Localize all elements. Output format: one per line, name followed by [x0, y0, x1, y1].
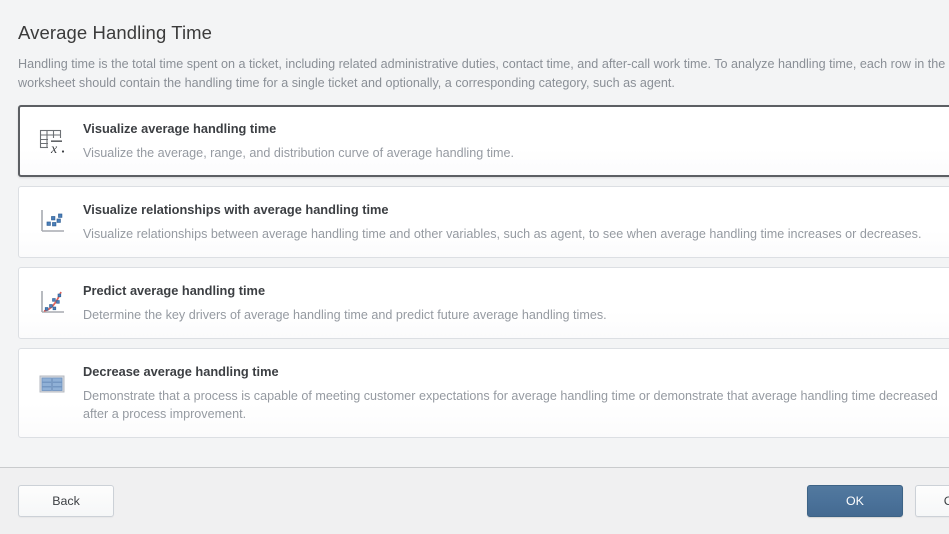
option-card-text: Visualize relationships with average han…	[83, 201, 921, 243]
option-card-title: Decrease average handling time	[83, 364, 938, 380]
option-card-title: Visualize average handling time	[83, 121, 514, 137]
option-card-description: Visualize relationships between average …	[83, 225, 921, 243]
option-card-text: Predict average handling time Determine …	[83, 282, 607, 324]
dialog-footer: Back OK Cancel	[0, 467, 949, 534]
option-card-visualize-average-handling-time[interactable]: x Visualize average handling time Visual…	[18, 105, 949, 177]
average-handling-time-dialog: Average Handling Time Handling time is t…	[0, 0, 949, 534]
svg-text:x: x	[50, 142, 58, 156]
option-card-description: Visualize the average, range, and distri…	[83, 144, 514, 162]
cancel-button[interactable]: Cancel	[915, 485, 949, 517]
fitted-line-plot-icon	[33, 283, 71, 323]
page-description: Handling time is the total time spent on…	[0, 55, 949, 92]
option-card-title: Visualize relationships with average han…	[83, 202, 921, 218]
scatterplot-icon	[33, 202, 71, 242]
page-title: Average Handling Time	[0, 22, 949, 44]
option-card-visualize-relationships[interactable]: Visualize relationships with average han…	[18, 186, 949, 258]
option-card-text: Visualize average handling time Visualiz…	[83, 120, 514, 162]
option-card-text: Decrease average handling time Demonstra…	[83, 363, 938, 423]
option-card-description: Determine the key drivers of average han…	[83, 306, 607, 324]
footer-right-buttons: OK Cancel	[807, 485, 949, 517]
option-card-decrease-average-handling-time[interactable]: Decrease average handling time Demonstra…	[18, 348, 949, 438]
option-card-predict-average-handling-time[interactable]: Predict average handling time Determine …	[18, 267, 949, 339]
blue-table-icon	[33, 364, 71, 404]
ok-button[interactable]: OK	[807, 485, 903, 517]
option-card-description: Demonstrate that a process is capable of…	[83, 387, 938, 423]
option-card-list: x Visualize average handling time Visual…	[0, 105, 949, 438]
table-xbar-icon: x	[33, 121, 71, 161]
option-card-title: Predict average handling time	[83, 283, 607, 299]
dialog-content-area: Average Handling Time Handling time is t…	[0, 0, 949, 467]
back-button[interactable]: Back	[18, 485, 114, 517]
